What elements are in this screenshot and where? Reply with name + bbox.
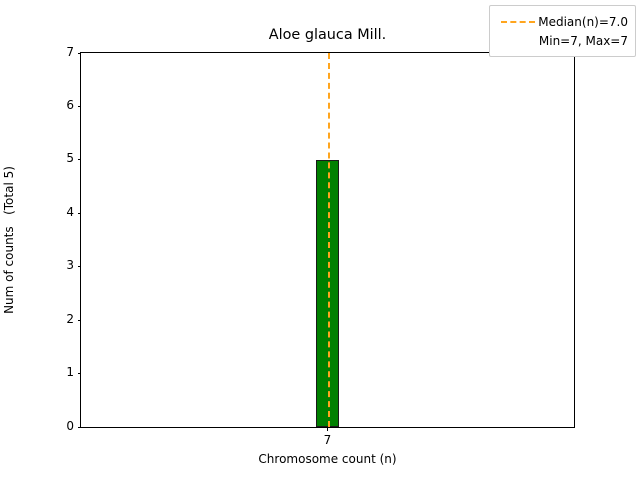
y-tick-label: 2 (66, 312, 74, 326)
legend: Median(n)=7.0 Min=7, Max=7 (489, 5, 636, 57)
plot-area: 701234567 (80, 52, 575, 428)
y-tick-label: 0 (66, 419, 74, 433)
y-tick-mark (78, 106, 82, 107)
median-line (328, 53, 330, 427)
legend-item: Median(n)=7.0 (498, 12, 628, 31)
x-axis-label: Chromosome count (n) (80, 452, 575, 466)
y-tick-mark (78, 320, 82, 321)
y-tick-mark (78, 213, 82, 214)
y-tick-mark (78, 53, 82, 54)
x-tick-label: 7 (288, 433, 368, 447)
y-tick-label: 7 (66, 45, 74, 59)
y-tick-label: 3 (66, 258, 74, 272)
y-tick-mark (78, 373, 82, 374)
legend-item-label: Min=7, Max=7 (498, 34, 628, 48)
y-tick-label: 6 (66, 98, 74, 112)
legend-dashed-line-icon (498, 12, 538, 31)
legend-item: Min=7, Max=7 (498, 31, 628, 50)
y-axis-label-container: Num of counts (Total 5) (0, 52, 18, 428)
y-axis-label: Num of counts (Total 5) (2, 166, 16, 314)
y-tick-label: 5 (66, 151, 74, 165)
y-tick-mark (78, 159, 82, 160)
dashed-line-swatch (501, 21, 535, 23)
y-tick-label: 4 (66, 205, 74, 219)
chart-figure: Aloe glauca Mill. 701234567 Chromosome c… (0, 0, 640, 480)
legend-item-label: Median(n)=7.0 (538, 15, 628, 29)
x-tick-mark (327, 427, 328, 431)
y-tick-mark (78, 266, 82, 267)
y-tick-mark (78, 427, 82, 428)
y-tick-label: 1 (66, 365, 74, 379)
